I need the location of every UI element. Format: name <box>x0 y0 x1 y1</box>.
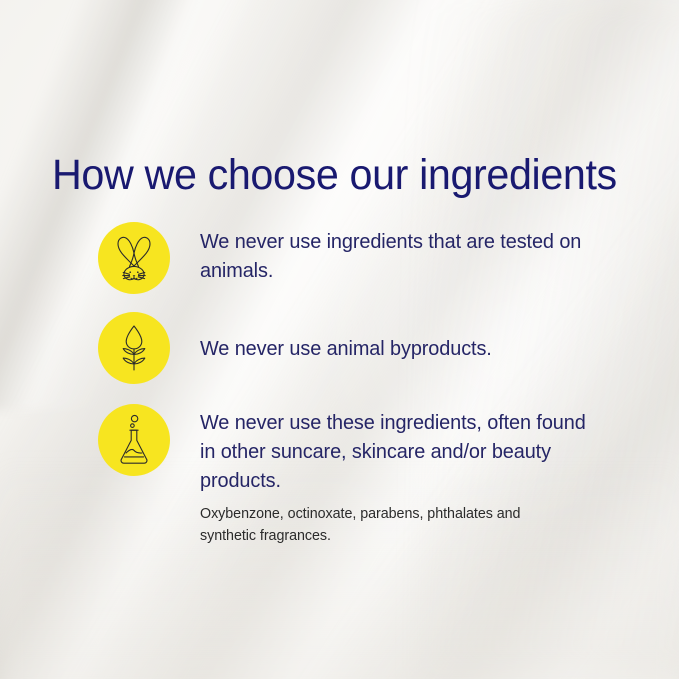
list-item-label: We never use ingredients that are tested… <box>200 227 588 285</box>
list-item-text-block: We never use these ingredients, often fo… <box>200 404 638 548</box>
list-item: We never use ingredients that are tested… <box>98 222 638 294</box>
points-list: We never use ingredients that are tested… <box>98 222 638 548</box>
bunny-heart-ears-icon <box>98 222 170 294</box>
card-content: How we choose our ingredients <box>0 0 679 679</box>
plant-sprout-droplet-icon <box>98 312 170 384</box>
list-item-text-block: We never use animal byproducts. <box>200 312 638 363</box>
ingredient-philosophy-card: How we choose our ingredients <box>0 0 679 679</box>
list-item-text-block: We never use ingredients that are tested… <box>200 222 638 285</box>
erlenmeyer-flask-icon <box>98 404 170 476</box>
list-item: We never use these ingredients, often fo… <box>98 404 638 548</box>
list-item-label: We never use these ingredients, often fo… <box>200 408 603 495</box>
list-item: We never use animal byproducts. <box>98 312 638 384</box>
list-item-label: We never use animal byproducts. <box>200 334 588 363</box>
page-title: How we choose our ingredients <box>52 151 617 199</box>
list-item-sublabel: Oxybenzone, octinoxate, parabens, phthal… <box>200 504 572 547</box>
